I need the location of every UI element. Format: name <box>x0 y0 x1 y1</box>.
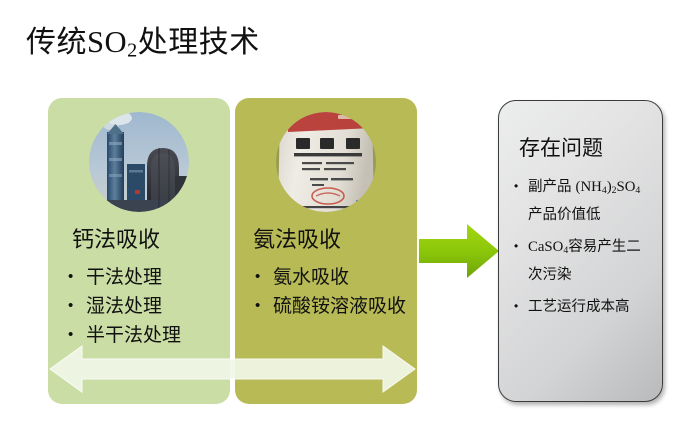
title-formula: SO2 <box>87 25 138 59</box>
desulfurization-plant-photo <box>89 112 189 212</box>
panel-heading-calcium: 钙法吸收 <box>72 226 160 254</box>
slide-canvas: 传统SO2处理技术 <box>0 0 692 446</box>
list-item: 干法处理 <box>66 264 220 292</box>
title-formula-subscript: 2 <box>127 39 138 61</box>
panel-heading-ammonia: 氨法吸收 <box>253 226 341 254</box>
ammonium-sulphate-bag-photo <box>276 112 376 212</box>
bullet-list-problems: 副产品 (NH4)2SO4产品价值低 CaSO4容易产生二次污染 工艺运行成本高 <box>513 175 654 327</box>
panel-heading-problems: 存在问题 <box>519 136 603 162</box>
calcium-sulfate-formula: CaSO4 <box>528 239 568 255</box>
list-item: 硫酸铵溶液吸收 <box>253 293 407 321</box>
list-item: CaSO4容易产生二次污染 <box>513 235 654 287</box>
list-item: 氨水吸收 <box>253 264 407 292</box>
list-item: 副产品 (NH4)2SO4产品价值低 <box>513 175 654 227</box>
right-green-arrow <box>417 222 501 280</box>
bullet-lead: 副产品 <box>528 179 576 195</box>
list-item: 工艺运行成本高 <box>513 295 654 319</box>
title-suffix: 处理技术 <box>138 26 260 59</box>
ammonium-sulfate-formula: (NH4)2SO4 <box>576 179 641 195</box>
title-prefix: 传统 <box>26 26 87 59</box>
bullet-trail: 产品价值低 <box>528 207 601 223</box>
bullet-list-ammonia: 氨水吸收 硫酸铵溶液吸收 <box>253 264 407 322</box>
panel-existing-problems[interactable]: 存在问题 副产品 (NH4)2SO4产品价值低 CaSO4容易产生二次污染 工艺… <box>498 100 663 402</box>
bullet-list-calcium: 干法处理 湿法处理 半干法处理 <box>66 264 220 351</box>
list-item: 湿法处理 <box>66 293 220 321</box>
page-title: 传统SO2处理技术 <box>26 22 260 70</box>
bidirectional-white-arrow <box>48 342 417 396</box>
